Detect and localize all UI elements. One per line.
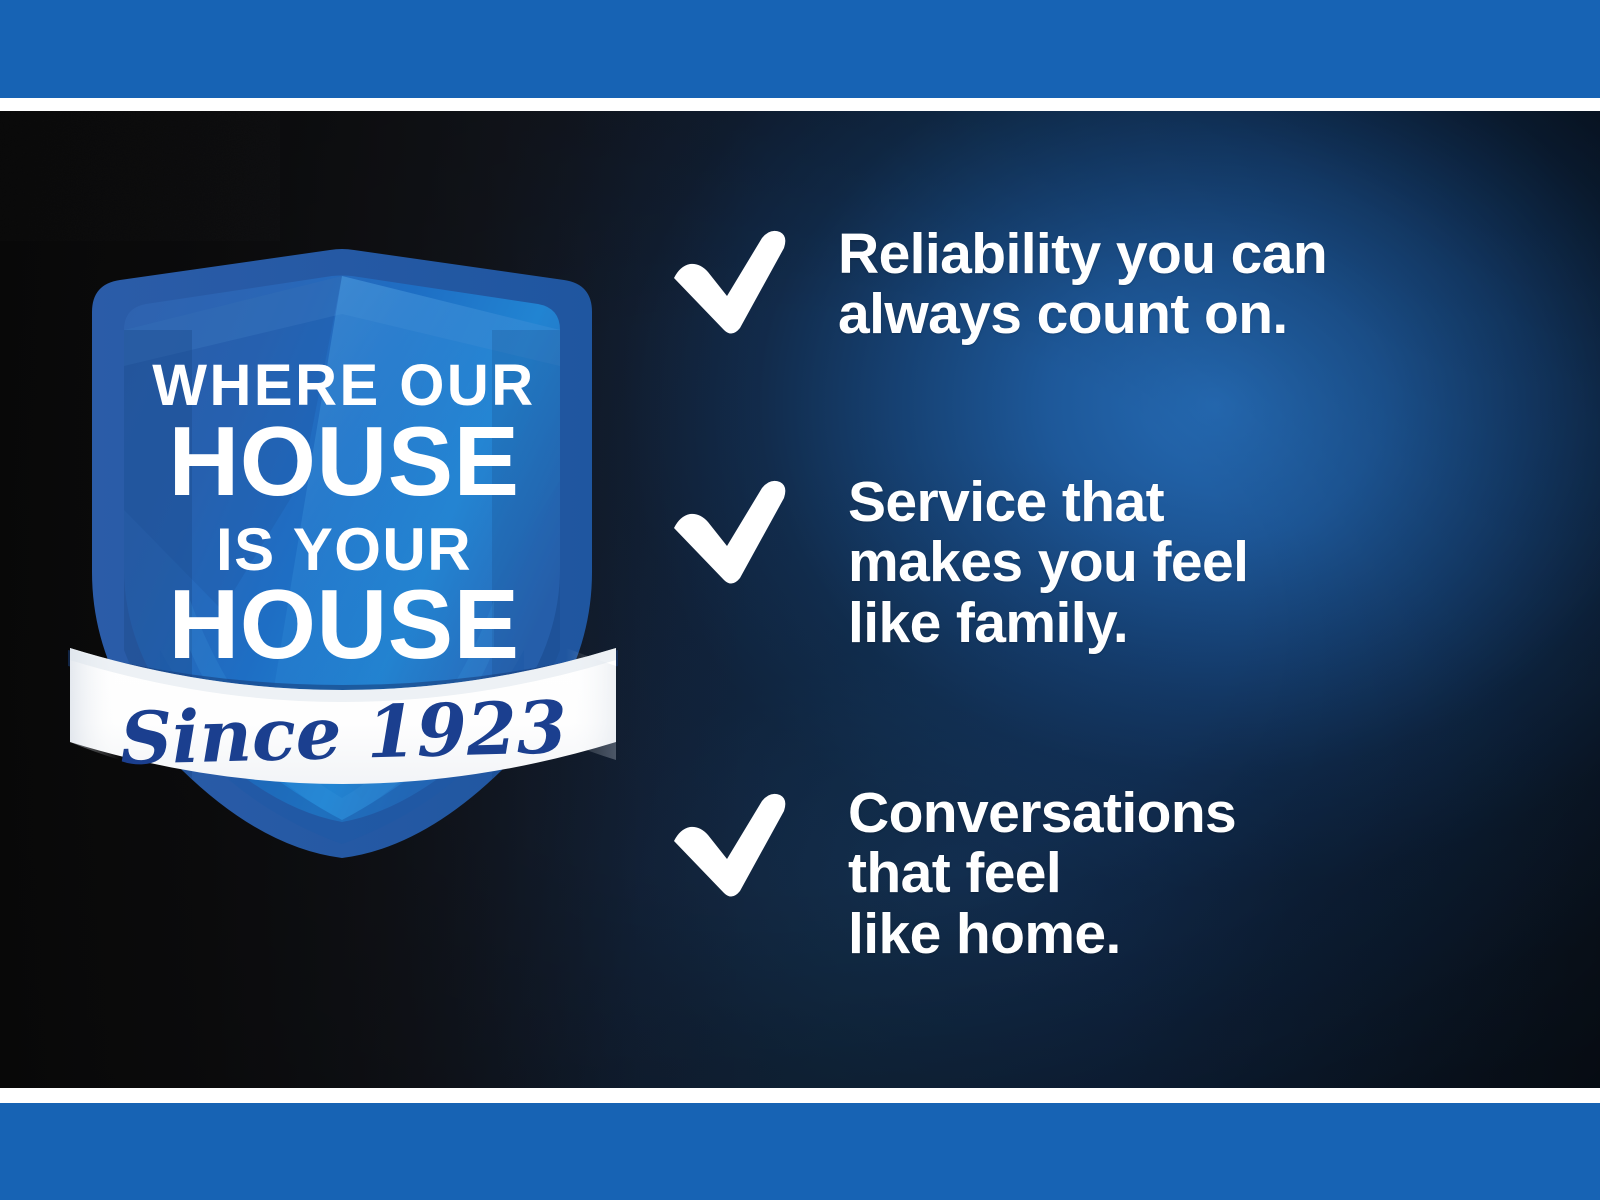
bottom-divider <box>0 1088 1600 1103</box>
check-icon <box>670 779 800 901</box>
shield-since-text: Since 1923 <box>119 684 568 781</box>
benefit-text-0: Reliability you can always count on. <box>838 216 1327 345</box>
shield-line-1: HOUSE <box>168 406 519 516</box>
benefit-item-0: Reliability you can always count on. <box>670 216 1327 345</box>
top-divider <box>0 98 1600 111</box>
top-accent-bar <box>0 0 1600 98</box>
benefits-list: Reliability you can always count on. Ser… <box>660 111 1560 1088</box>
benefit-text-1: Service that makes you feel like family. <box>848 466 1248 653</box>
shield-badge: WHERE OUR HOUSE IS YOUR HOUSE Since 1923 <box>62 180 622 860</box>
benefit-item-1: Service that makes you feel like family. <box>670 466 1248 653</box>
benefit-text-2: Conversations that feel like home. <box>848 779 1236 964</box>
shield-line-3: HOUSE <box>168 569 519 679</box>
promo-poster: WHERE OUR HOUSE IS YOUR HOUSE Since 1923 <box>0 0 1600 1200</box>
bottom-accent-bar <box>0 1103 1600 1200</box>
check-icon <box>670 466 800 588</box>
check-icon <box>670 216 800 338</box>
benefit-item-2: Conversations that feel like home. <box>670 779 1236 964</box>
